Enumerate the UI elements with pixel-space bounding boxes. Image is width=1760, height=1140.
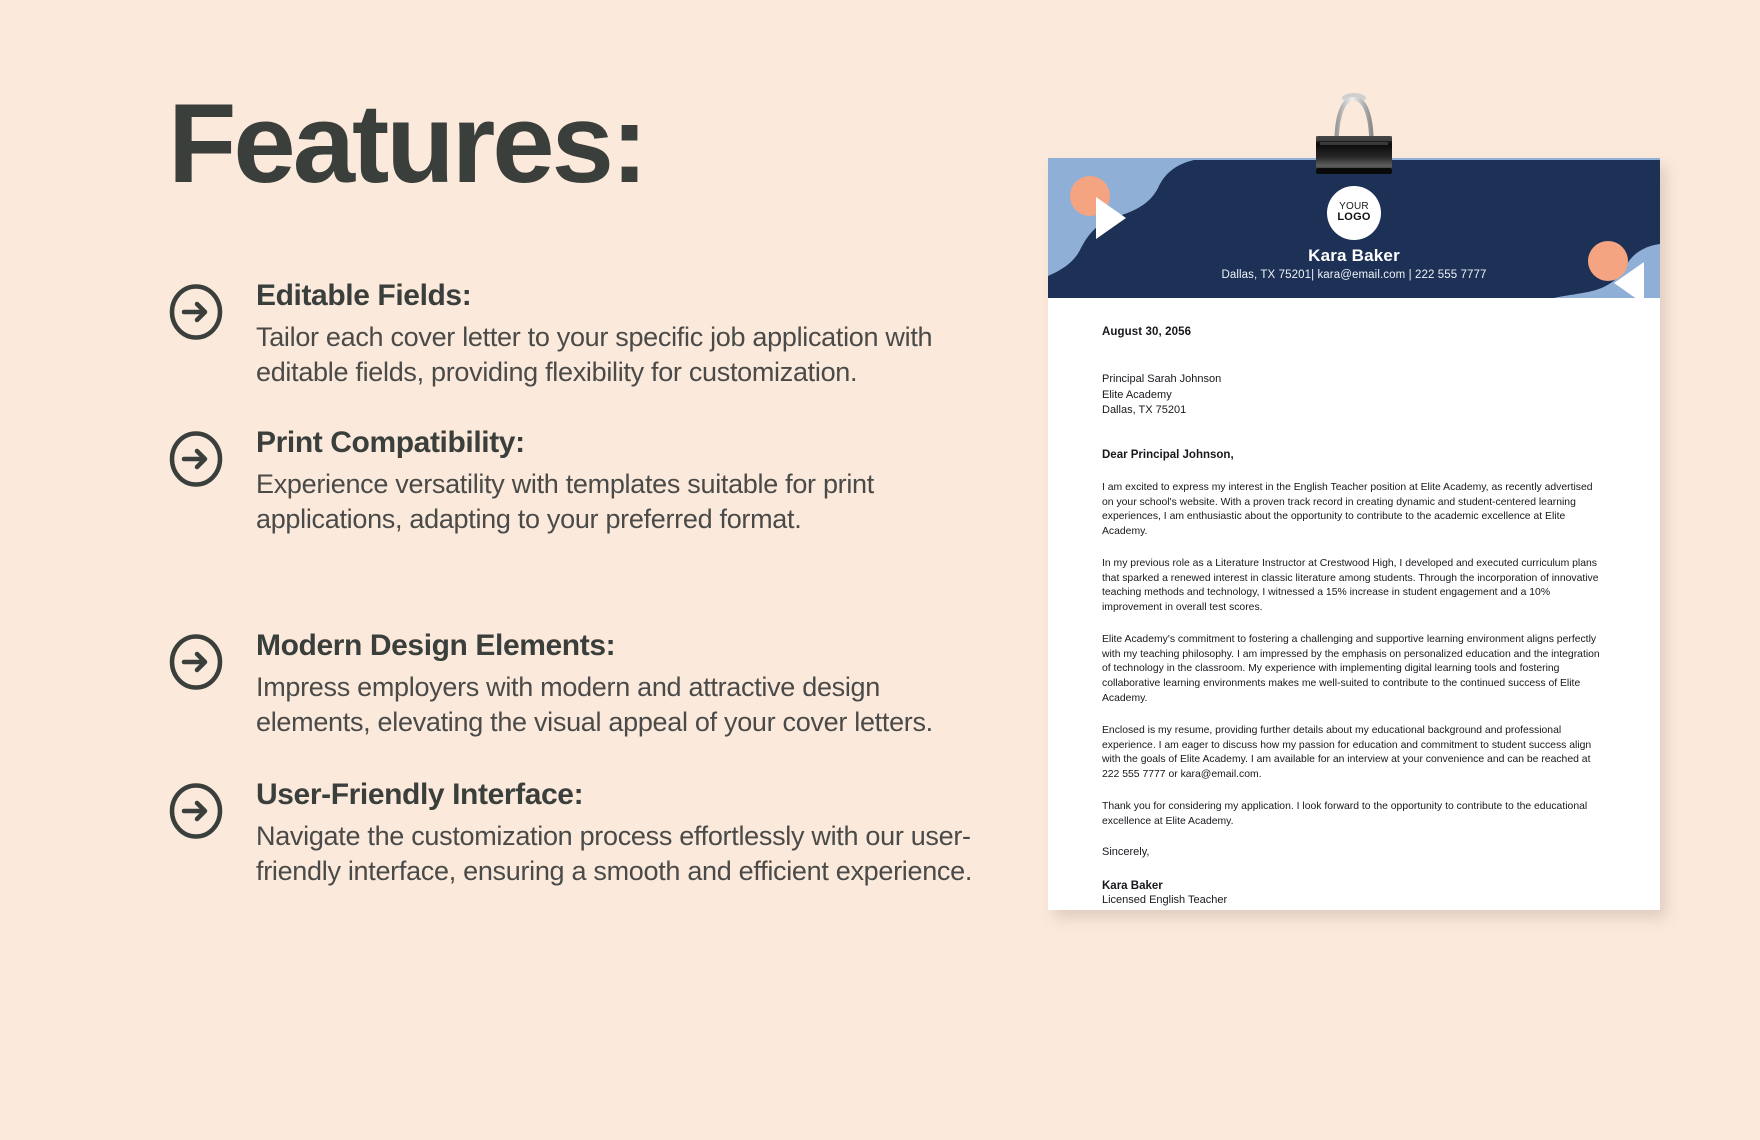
signer-name: Kara Baker (1102, 880, 1606, 892)
recipient-line: Elite Academy (1102, 388, 1606, 404)
feature-title: User-Friendly Interface: (256, 777, 978, 813)
letter-paragraph: Elite Academy's commitment to fostering … (1102, 633, 1606, 707)
recipient-line: Dallas, TX 75201 (1102, 403, 1606, 419)
sender-name: Kara Baker (1048, 246, 1660, 266)
feature-title: Print Compatibility: (256, 425, 978, 461)
cover-letter-preview: YOUR LOGO Kara Baker Dallas, TX 75201| k… (1048, 158, 1660, 910)
feature-description: Impress employers with modern and attrac… (256, 670, 978, 739)
letter-paragraph: I am excited to express my interest in t… (1102, 481, 1606, 540)
feature-item-print-compatibility: Print Compatibility: Experience versatil… (168, 425, 978, 536)
page-title: Features: (168, 88, 645, 200)
recipient-line: Principal Sarah Johnson (1102, 372, 1606, 388)
feature-description: Tailor each cover letter to your specifi… (256, 320, 978, 389)
letter-paragraph: In my previous role as a Literature Inst… (1102, 557, 1606, 616)
feature-description: Navigate the customization process effor… (256, 819, 978, 888)
letter-paragraph: Enclosed is my resume, providing further… (1102, 724, 1606, 783)
logo-line-2: LOGO (1337, 212, 1370, 224)
letter-paragraph: Thank you for considering my application… (1102, 800, 1606, 830)
feature-title: Modern Design Elements: (256, 628, 978, 664)
letter-paper: YOUR LOGO Kara Baker Dallas, TX 75201| k… (1048, 158, 1660, 910)
signer-role: Licensed English Teacher (1102, 894, 1606, 906)
arrow-circle-right-icon (168, 431, 224, 487)
binder-clip-icon (1294, 76, 1414, 196)
feature-description: Experience versatility with templates su… (256, 467, 978, 536)
feature-item-user-friendly-interface: User-Friendly Interface: Navigate the cu… (168, 777, 978, 888)
closing-salutation: Sincerely, (1102, 846, 1606, 858)
arrow-circle-right-icon (168, 783, 224, 839)
arrow-circle-right-icon (168, 284, 224, 340)
arrow-circle-right-icon (168, 634, 224, 690)
feature-title: Editable Fields: (256, 278, 978, 314)
recipient-block: Principal Sarah Johnson Elite Academy Da… (1102, 372, 1606, 419)
letter-date: August 30, 2056 (1102, 326, 1606, 338)
white-triangle-decoration-top-left (1096, 197, 1126, 239)
salutation: Dear Principal Johnson, (1102, 449, 1606, 461)
letter-body: August 30, 2056 Principal Sarah Johnson … (1048, 298, 1660, 910)
features-panel: Features: Editable Fields: Tailor each c… (0, 0, 1000, 1140)
feature-item-editable-fields: Editable Fields: Tailor each cover lette… (168, 278, 978, 389)
sender-contact-line: Dallas, TX 75201| kara@email.com | 222 5… (1048, 269, 1660, 281)
feature-item-modern-design-elements: Modern Design Elements: Impress employer… (168, 628, 978, 739)
feature-list: Editable Fields: Tailor each cover lette… (168, 278, 978, 924)
